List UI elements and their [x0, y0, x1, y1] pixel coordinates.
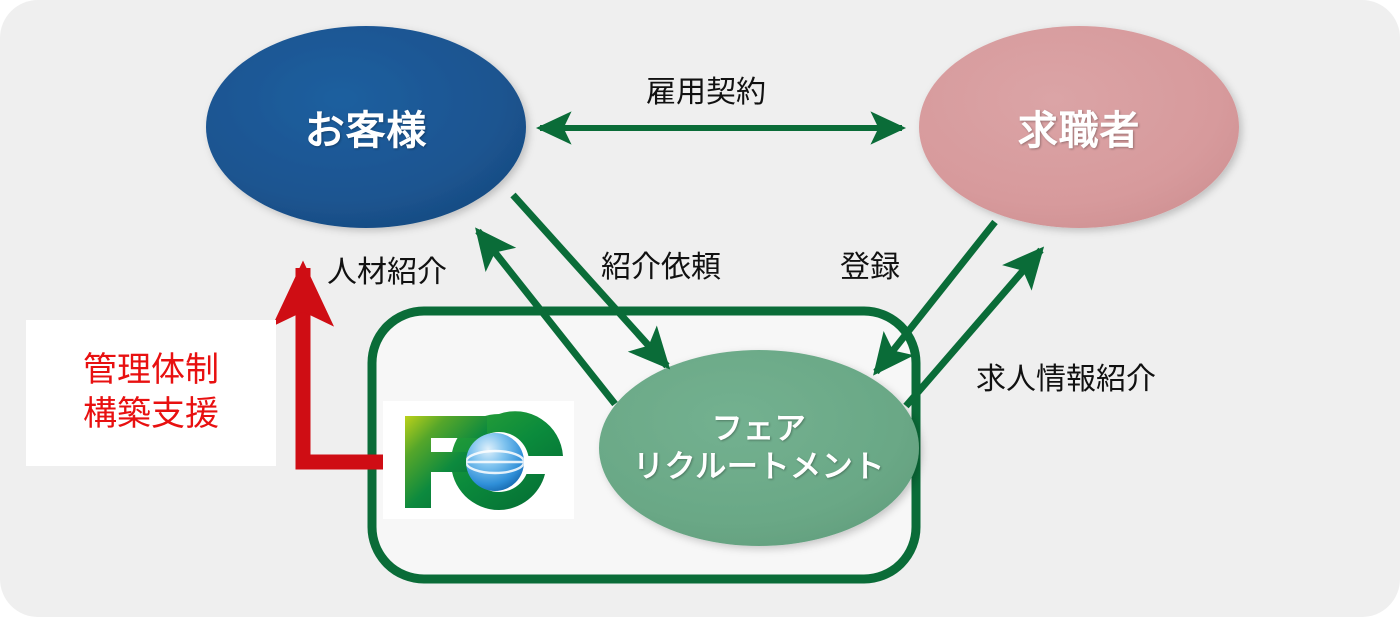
customer-node[interactable] [206, 26, 526, 228]
management-support-box: 管理体制 構築支援 [26, 320, 276, 466]
edge-label-referral-request: 紹介依頼 [601, 242, 721, 286]
edge-label-registration: 登録 [840, 242, 900, 286]
job-seeker-node[interactable] [919, 26, 1239, 228]
fg-logo-icon [391, 408, 566, 512]
edge-label-talent-referral: 人材紹介 [327, 247, 447, 291]
fair-recruitment-node[interactable] [599, 350, 919, 546]
diagram-canvas: お客様 求職者 フェア リクルートメント 雇用契約 人材紹介 紹介依頼 登録 求… [0, 0, 1400, 617]
fg-logo-box [383, 401, 574, 519]
edge-label-job-info-referral: 求人情報紹介 [976, 354, 1156, 398]
management-support-line-1: 管理体制 [83, 349, 219, 393]
management-support-line-2: 構築支援 [83, 393, 219, 437]
management-support-text: 管理体制 構築支援 [83, 349, 219, 436]
edge-label-employment-contract: 雇用契約 [646, 67, 766, 111]
